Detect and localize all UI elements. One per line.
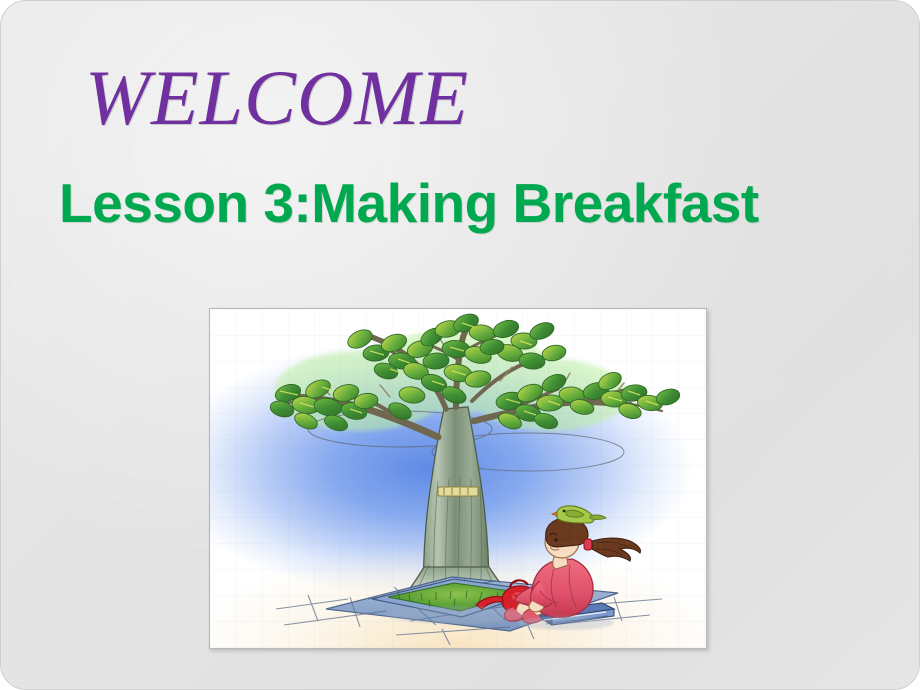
page-subtitle: Lesson 3:Making Breakfast <box>59 173 899 234</box>
illustration-frame <box>209 308 707 649</box>
paper-grid-texture <box>210 309 706 648</box>
slide-canvas: WELCOME Lesson 3:Making Breakfast <box>0 0 920 690</box>
page-title: WELCOME <box>85 59 845 137</box>
illustration-image <box>210 309 706 648</box>
